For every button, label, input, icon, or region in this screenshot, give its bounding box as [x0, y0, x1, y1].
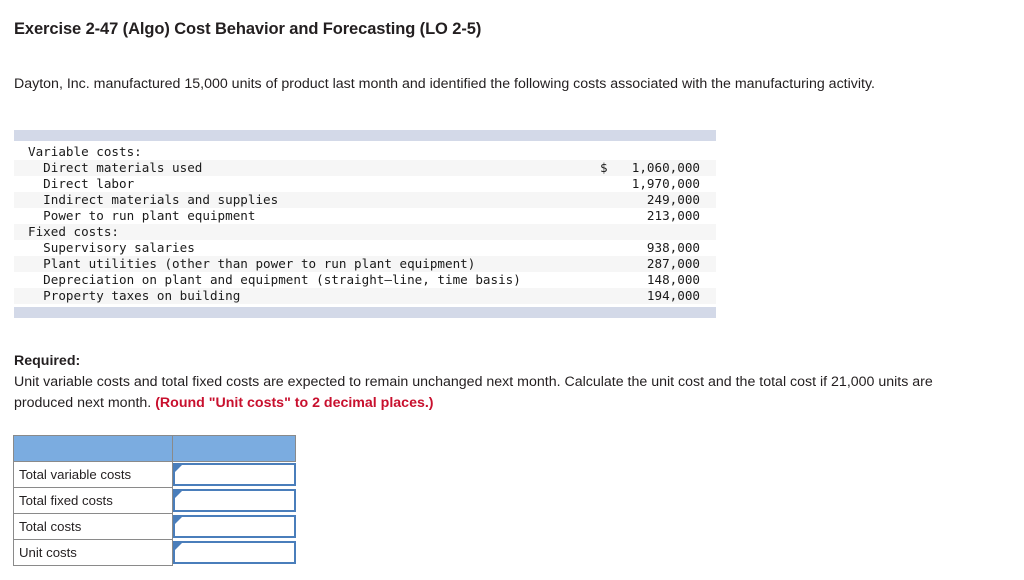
required-body: Unit variable costs and total fixed cost… — [14, 372, 992, 414]
answer-input-cell[interactable] — [173, 488, 296, 514]
cost-row-label: Direct materials used — [28, 160, 600, 176]
cost-row: Depreciation on plant and equipment (str… — [14, 272, 716, 288]
answer-row-label: Total costs — [14, 514, 173, 540]
cost-table-bottom-band — [14, 307, 716, 318]
cost-row-amount: 194,000 — [614, 288, 700, 304]
answer-table-header-row — [14, 436, 296, 462]
exercise-page: Exercise 2-47 (Algo) Cost Behavior and F… — [0, 0, 1024, 580]
cost-row-amount: 287,000 — [614, 256, 700, 272]
cost-row-label: Indirect materials and supplies — [28, 192, 600, 208]
cost-row-amount: 938,000 — [614, 240, 700, 256]
cost-row-label: Depreciation on plant and equipment (str… — [28, 272, 600, 288]
answer-input-cell[interactable] — [173, 540, 296, 566]
answer-table-header-cell — [173, 436, 296, 462]
answer-input-cell[interactable] — [173, 462, 296, 488]
cost-row-amount: 1,060,000 — [614, 160, 700, 176]
cost-row-label: Supervisory salaries — [28, 240, 600, 256]
cost-row: Direct labor1,970,000 — [14, 176, 716, 192]
answer-table: Total variable costsTotal fixed costsTot… — [13, 435, 296, 566]
cost-row: Direct materials used$1,060,000 — [14, 160, 716, 176]
answer-input-cell[interactable] — [173, 514, 296, 540]
cost-row: Power to run plant equipment213,000 — [14, 208, 716, 224]
cost-table-top-band — [14, 130, 716, 141]
table-row: Total fixed costs — [14, 488, 296, 514]
cost-row-amount: 249,000 — [614, 192, 700, 208]
answer-row-label: Total fixed costs — [14, 488, 173, 514]
cost-row: Supervisory salaries938,000 — [14, 240, 716, 256]
table-row: Unit costs — [14, 540, 296, 566]
cost-row-label: Variable costs: — [28, 144, 600, 160]
cost-row-label: Power to run plant equipment — [28, 208, 600, 224]
cost-row-label: Plant utilities (other than power to run… — [28, 256, 600, 272]
cost-row-label: Direct labor — [28, 176, 600, 192]
page-title: Exercise 2-47 (Algo) Cost Behavior and F… — [14, 20, 481, 39]
cost-data-table: Variable costs: Direct materials used$1,… — [14, 130, 716, 318]
cost-row-amount: 1,970,000 — [614, 176, 700, 192]
table-row: Total variable costs — [14, 462, 296, 488]
answer-input-field[interactable] — [173, 541, 296, 564]
table-row: Total costs — [14, 514, 296, 540]
required-label: Required: — [14, 353, 80, 369]
cost-row-amount: 148,000 — [614, 272, 700, 288]
rounding-note: (Round "Unit costs" to 2 decimal places.… — [155, 395, 433, 411]
answer-input-field[interactable] — [173, 463, 296, 486]
cost-row: Plant utilities (other than power to run… — [14, 256, 716, 272]
cost-row: Fixed costs: — [14, 224, 716, 240]
answer-row-label: Unit costs — [14, 540, 173, 566]
cost-row-amount: 213,000 — [614, 208, 700, 224]
answer-input-field[interactable] — [173, 515, 296, 538]
cost-row-currency: $ — [600, 160, 614, 176]
answer-table-header-cell — [14, 436, 173, 462]
cost-table-body: Variable costs: Direct materials used$1,… — [14, 141, 716, 307]
required-text: Unit variable costs and total fixed cost… — [14, 374, 933, 411]
cost-row-label: Fixed costs: — [28, 224, 600, 240]
cost-row: Indirect materials and supplies249,000 — [14, 192, 716, 208]
cost-row: Variable costs: — [14, 144, 716, 160]
answer-input-field[interactable] — [173, 489, 296, 512]
cost-row: Property taxes on building194,000 — [14, 288, 716, 304]
answer-row-label: Total variable costs — [14, 462, 173, 488]
intro-paragraph: Dayton, Inc. manufactured 15,000 units o… — [14, 74, 986, 95]
cost-row-label: Property taxes on building — [28, 288, 600, 304]
